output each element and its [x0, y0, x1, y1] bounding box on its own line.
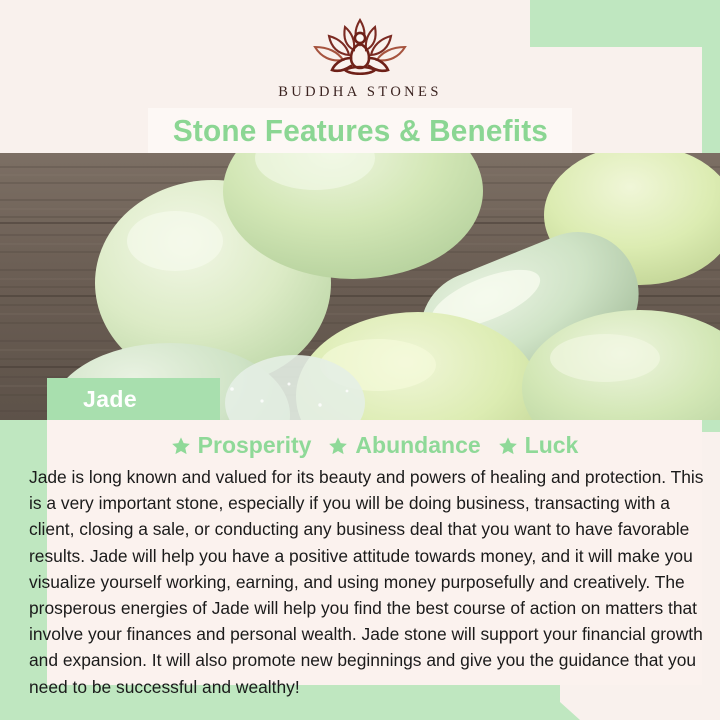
star-icon — [328, 436, 348, 456]
stone-name-label: Jade — [83, 386, 137, 413]
stone-info-card: BUDDHA STONES Stone Features & Benefits — [0, 0, 720, 720]
content-panel: Prosperity Abundance Luck Jade is long k… — [47, 420, 702, 685]
benefits-row: Prosperity Abundance Luck — [47, 420, 702, 459]
brand-name: BUDDHA STONES — [278, 84, 442, 101]
benefit-label: Luck — [525, 432, 579, 459]
benefit-item: Luck — [498, 432, 579, 459]
title-banner: Stone Features & Benefits — [148, 108, 572, 153]
stone-name-band: Jade — [47, 378, 220, 420]
page-title: Stone Features & Benefits — [172, 113, 547, 149]
stone-description: Jade is long known and valued for its be… — [14, 464, 714, 700]
benefit-item: Prosperity — [171, 432, 312, 459]
star-icon — [498, 436, 518, 456]
star-icon — [171, 436, 191, 456]
benefit-label: Prosperity — [198, 432, 312, 459]
benefit-item: Abundance — [328, 432, 480, 459]
lotus-meditation-icon — [285, 14, 435, 82]
benefit-label: Abundance — [355, 432, 480, 459]
brand-logo: BUDDHA STONES — [0, 14, 720, 101]
